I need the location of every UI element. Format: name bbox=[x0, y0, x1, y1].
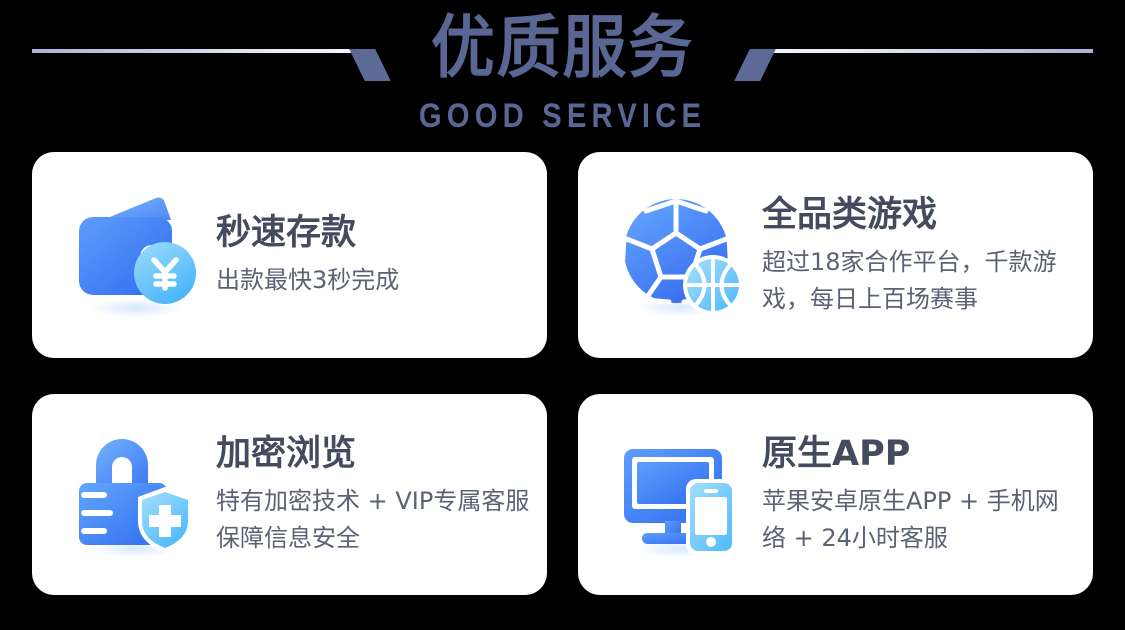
page-subtitle: GOOD SERVICE bbox=[79, 96, 1047, 136]
feature-card-text: 秒速存款 出款最快3秒完成 bbox=[216, 211, 413, 299]
page-header: 优质服务 GOOD SERVICE bbox=[0, 0, 1125, 150]
feature-card-deposit[interactable]: 秒速存款 出款最快3秒完成 bbox=[32, 152, 547, 358]
feature-card-encryption[interactable]: 加密浏览 特有加密技术 + VIP专属客服保障信息安全 bbox=[32, 394, 547, 595]
feature-card-desc: 超过18家合作平台，千款游戏，每日上百场赛事 bbox=[762, 244, 1079, 318]
wallet-yen-icon bbox=[70, 189, 202, 321]
feature-card-games[interactable]: 全品类游戏 超过18家合作平台，千款游戏，每日上百场赛事 bbox=[578, 152, 1093, 358]
soccer-basketball-icon bbox=[616, 189, 748, 321]
feature-card-title: 加密浏览 bbox=[216, 432, 533, 476]
feature-card-grid: 秒速存款 出款最快3秒完成 bbox=[32, 152, 1093, 595]
feature-card-title: 秒速存款 bbox=[216, 211, 399, 255]
feature-card-desc: 出款最快3秒完成 bbox=[216, 262, 399, 299]
feature-card-native-app[interactable]: 原生APP 苹果安卓原生APP + 手机网络 + 24小时客服 bbox=[578, 394, 1093, 595]
lock-shield-icon bbox=[70, 429, 202, 561]
feature-card-desc: 特有加密技术 + VIP专属客服保障信息安全 bbox=[216, 483, 533, 557]
feature-card-title: 原生APP bbox=[762, 432, 1062, 476]
page-title: 优质服务 bbox=[34, 8, 1092, 90]
feature-card-text: 原生APP 苹果安卓原生APP + 手机网络 + 24小时客服 bbox=[762, 432, 1076, 557]
feature-card-text: 全品类游戏 超过18家合作平台，千款游戏，每日上百场赛事 bbox=[762, 193, 1093, 318]
feature-card-text: 加密浏览 特有加密技术 + VIP专属客服保障信息安全 bbox=[216, 432, 547, 557]
feature-card-desc: 苹果安卓原生APP + 手机网络 + 24小时客服 bbox=[762, 483, 1062, 557]
feature-card-title: 全品类游戏 bbox=[762, 193, 1079, 237]
monitor-phone-icon bbox=[616, 429, 748, 561]
